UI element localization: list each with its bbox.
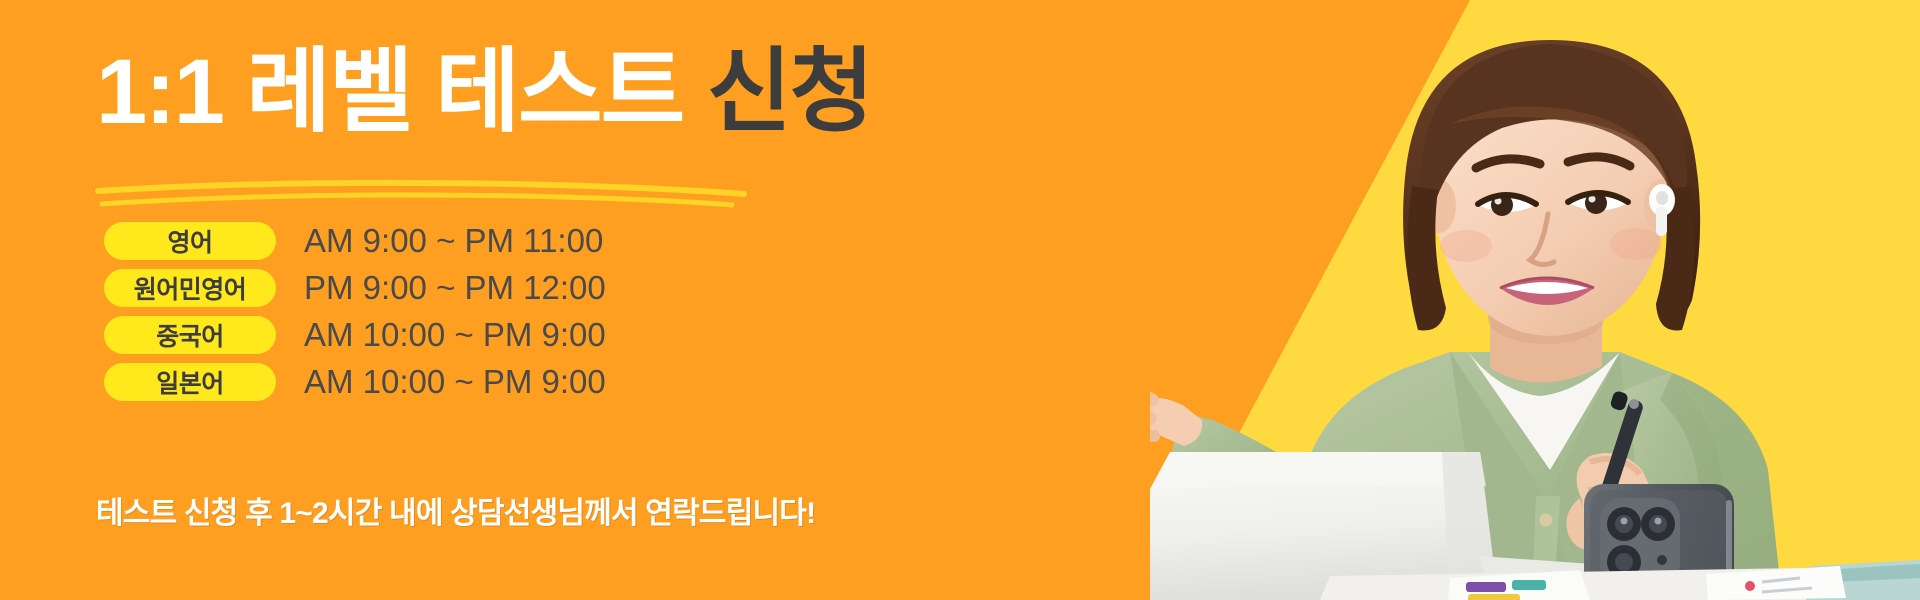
consultant-photo xyxy=(1150,0,1920,600)
footnote-text: 테스트 신청 후 1~2시간 내에 상담선생님께서 연락드립니다! xyxy=(96,488,815,532)
headline-underline-swoosh xyxy=(92,178,752,208)
schedule-row: 중국어 AM 10:00 ~ PM 9:00 xyxy=(104,316,606,354)
headline-highlight: 1:1 레벨 테스트 xyxy=(96,41,683,143)
promo-banner: 1:1 레벨 테스트 신청 영어 AM 9:00 ~ PM 11:00 원어민영… xyxy=(0,0,1920,600)
schedule-row: 원어민영어 PM 9:00 ~ PM 12:00 xyxy=(104,269,606,307)
page-title: 1:1 레벨 테스트 신청 xyxy=(96,44,872,141)
schedule-list: 영어 AM 9:00 ~ PM 11:00 원어민영어 PM 9:00 ~ PM… xyxy=(104,222,606,401)
language-badge-native-english: 원어민영어 xyxy=(104,269,276,307)
headline-suffix: 신청 xyxy=(707,41,872,143)
schedule-hours: PM 9:00 ~ PM 12:00 xyxy=(304,269,606,307)
banner-content: 1:1 레벨 테스트 신청 영어 AM 9:00 ~ PM 11:00 원어민영… xyxy=(96,0,996,600)
schedule-hours: AM 10:00 ~ PM 9:00 xyxy=(304,316,606,354)
schedule-hours: AM 9:00 ~ PM 11:00 xyxy=(304,222,603,260)
language-badge-chinese: 중국어 xyxy=(104,316,276,354)
schedule-hours: AM 10:00 ~ PM 9:00 xyxy=(304,363,606,401)
language-badge-english: 영어 xyxy=(104,222,276,260)
schedule-row: 일본어 AM 10:00 ~ PM 9:00 xyxy=(104,363,606,401)
schedule-row: 영어 AM 9:00 ~ PM 11:00 xyxy=(104,222,606,260)
language-badge-japanese: 일본어 xyxy=(104,363,276,401)
